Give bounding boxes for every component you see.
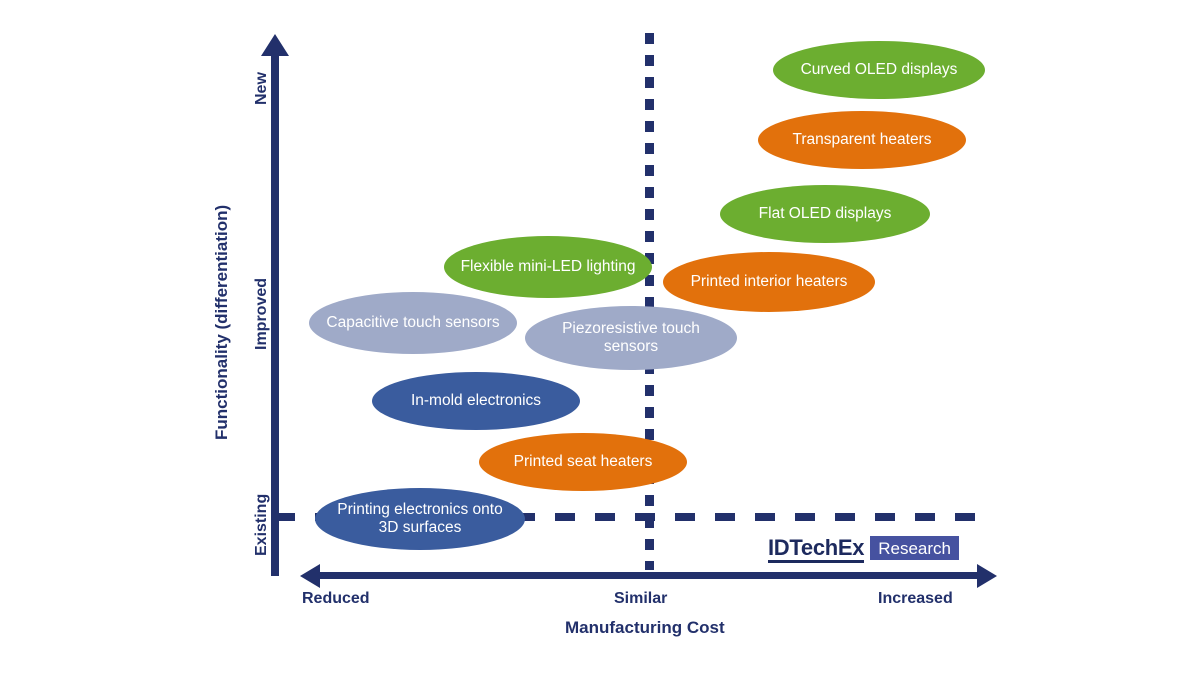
bubble-transparent-heaters[interactable]: Transparent heaters — [758, 111, 966, 169]
bubble-printed-seat-heaters[interactable]: Printed seat heaters — [479, 433, 687, 491]
chart-canvas: Functionality (differentiation) New Impr… — [0, 0, 1200, 675]
logo-research-badge: Research — [870, 536, 959, 560]
x-axis-arrowhead-left-icon — [300, 564, 320, 588]
x-axis-title: Manufacturing Cost — [565, 618, 725, 638]
bubble-label: Transparent heaters — [792, 131, 931, 149]
bubble-in-mold-electronics[interactable]: In-mold electronics — [372, 372, 580, 430]
x-tick-label-increased: Increased — [878, 590, 953, 608]
y-tick-label-new: New — [253, 72, 271, 105]
bubble-label: Curved OLED displays — [801, 61, 958, 79]
bubble-label: Flexible mini-LED lighting — [461, 258, 636, 276]
bubble-capacitive-touch-sensors[interactable]: Capacitive touch sensors — [309, 292, 517, 354]
x-axis-line — [318, 572, 980, 579]
y-tick-label-existing: Existing — [253, 494, 271, 556]
bubble-label: Printed seat heaters — [514, 453, 653, 471]
logo-wordmark: IDTechEx — [768, 536, 864, 563]
vertical-reference-line — [645, 33, 654, 570]
bubble-label: Printed interior heaters — [691, 273, 848, 291]
bubble-label: Capacitive touch sensors — [326, 314, 499, 332]
y-axis-arrowhead-icon — [261, 34, 289, 56]
y-axis-line — [271, 52, 279, 576]
bubble-flexible-mini-led-lighting[interactable]: Flexible mini-LED lighting — [444, 236, 652, 298]
x-axis-arrowhead-right-icon — [977, 564, 997, 588]
x-tick-label-similar: Similar — [614, 590, 667, 608]
bubble-curved-oled-displays[interactable]: Curved OLED displays — [773, 41, 985, 99]
bubble-flat-oled-displays[interactable]: Flat OLED displays — [720, 185, 930, 243]
y-tick-label-improved: Improved — [253, 278, 271, 350]
x-tick-label-reduced: Reduced — [302, 590, 370, 608]
bubble-label: Flat OLED displays — [759, 205, 892, 223]
idtechex-logo: IDTechEx Research — [768, 536, 959, 563]
bubble-printing-electronics-onto-3d-surfaces[interactable]: Printing electronics onto 3D surfaces — [315, 488, 525, 550]
bubble-label: In-mold electronics — [411, 392, 541, 410]
bubble-label: Piezoresistive touch sensors — [537, 320, 725, 357]
bubble-printed-interior-heaters[interactable]: Printed interior heaters — [663, 252, 875, 312]
y-axis-title: Functionality (differentiation) — [212, 205, 232, 440]
bubble-label: Printing electronics onto 3D surfaces — [327, 501, 513, 538]
bubble-piezoresistive-touch-sensors[interactable]: Piezoresistive touch sensors — [525, 306, 737, 370]
